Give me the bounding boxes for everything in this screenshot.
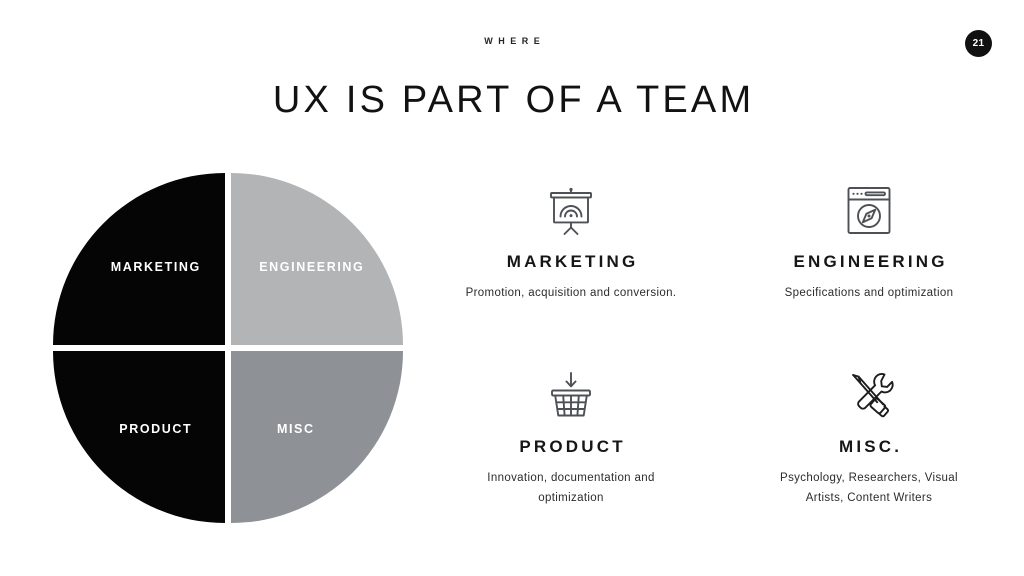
card-title-product: PRODUCT xyxy=(516,437,626,457)
presentation-screen-icon xyxy=(542,178,600,244)
card-description-marketing: Promotion, acquisition and conversion. xyxy=(466,283,677,303)
pie-slice-marketing: MARKETING xyxy=(53,173,225,345)
basket-download-icon xyxy=(542,363,600,429)
pie-slice-label-engineering: ENGINEERING xyxy=(258,260,365,274)
pie-slice-engineering: ENGINEERING xyxy=(231,173,403,345)
slide-kicker: WHERE xyxy=(0,36,1024,46)
card-misc: MISC. Psychology, Researchers, Visual Ar… xyxy=(738,353,1000,508)
pie-slice-label-marketing: MARKETING xyxy=(109,260,201,274)
card-description-misc: Psychology, Researchers, Visual Artists,… xyxy=(762,468,977,508)
pie-slice-label-product: PRODUCT xyxy=(118,422,193,436)
card-product: PRODUCT Innovation, documentation and op… xyxy=(440,353,702,508)
browser-compass-icon xyxy=(840,178,898,244)
pie-slice-product: PRODUCT xyxy=(53,351,225,523)
card-engineering: ENGINEERING Specifications and optimizat… xyxy=(738,178,1000,327)
card-description-engineering: Specifications and optimization xyxy=(785,283,954,303)
card-marketing: MARKETING Promotion, acquisition and con… xyxy=(440,178,702,327)
wrench-screwdriver-icon xyxy=(839,363,899,429)
page-number-badge: 21 xyxy=(965,30,992,57)
page-title: UX IS PART OF A TEAM xyxy=(0,79,1024,122)
card-description-product: Innovation, documentation and optimizati… xyxy=(464,468,679,508)
pie-slice-label-misc: MISC xyxy=(275,422,314,436)
slide: WHERE UX IS PART OF A TEAM 21 MARKETING … xyxy=(0,0,1024,576)
card-title-engineering: ENGINEERING xyxy=(790,252,947,272)
card-title-misc: MISC. xyxy=(836,437,902,457)
team-role-cards: MARKETING Promotion, acquisition and con… xyxy=(440,178,1000,508)
card-title-marketing: MARKETING xyxy=(504,252,639,272)
pie-slice-misc: MISC xyxy=(231,351,403,523)
team-quadrant-chart: MARKETING ENGINEERING PRODUCT MISC xyxy=(53,173,403,523)
